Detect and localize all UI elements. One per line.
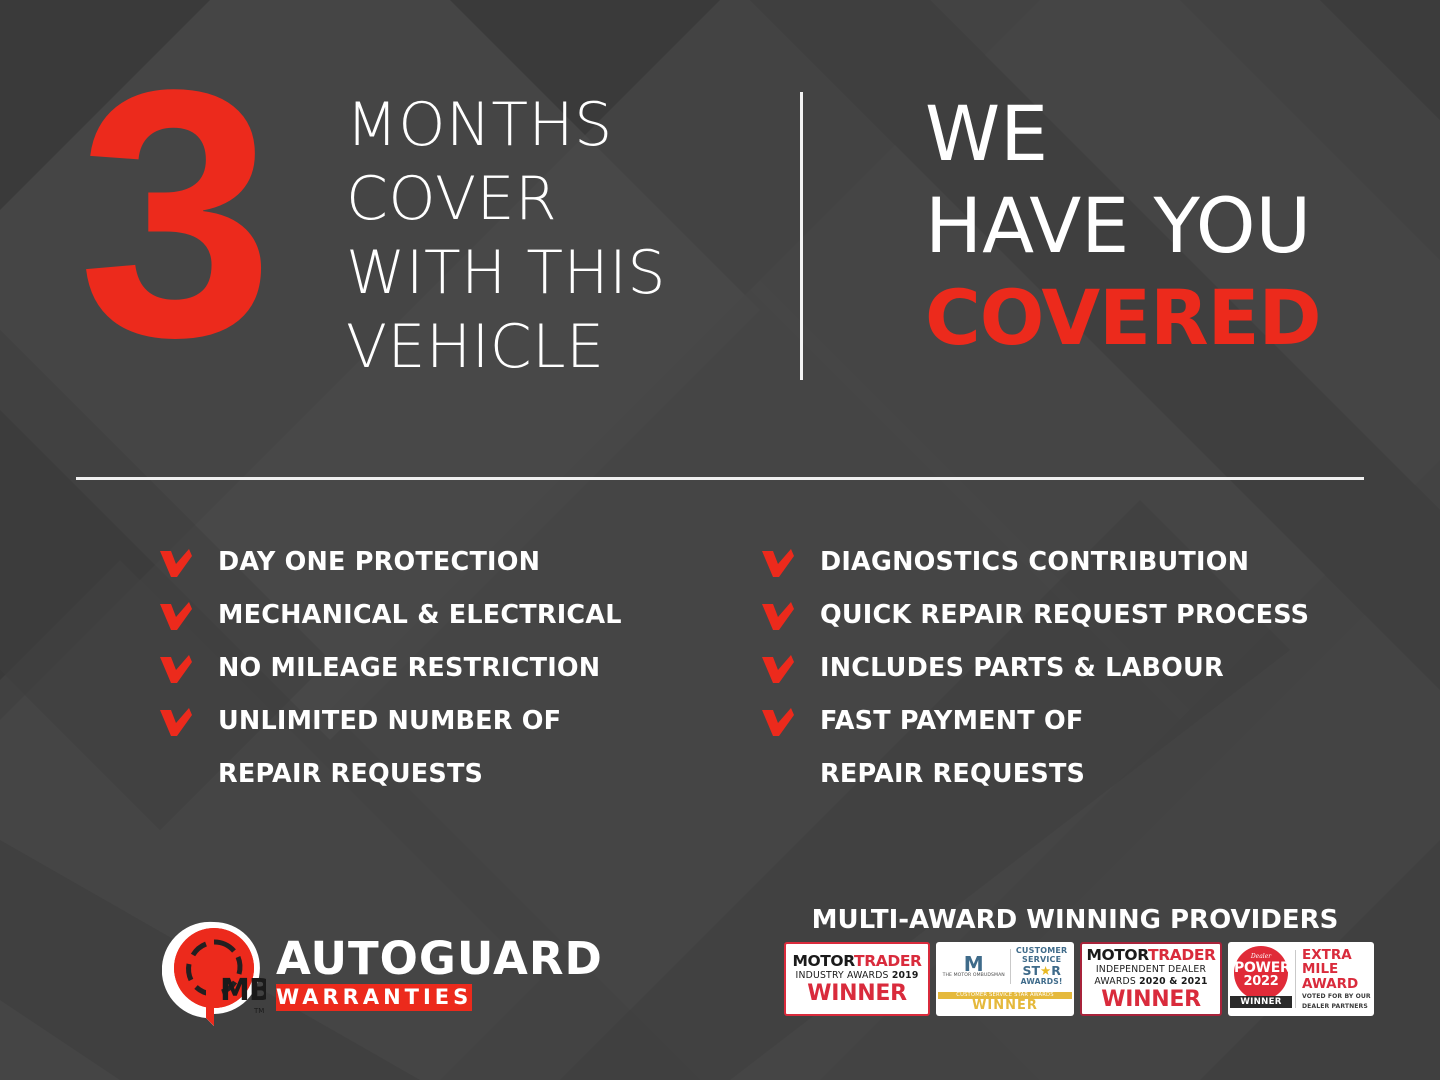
badge-separator	[1010, 949, 1011, 984]
hero-section: 3 MONTHS COVER WITH THIS VEHICLE WE HAVE…	[0, 0, 1440, 460]
voted-line-2: DEALER PARTNERS	[1302, 1003, 1372, 1010]
check-icon	[158, 600, 194, 634]
right-headline: WE HAVE YOU COVERED	[925, 88, 1321, 364]
awards-badge-row: MOTORTRADER INDUSTRY AWARDS 2019 WINNER …	[784, 942, 1366, 1016]
brand-name: AUTOGUARD	[276, 932, 603, 985]
power-label: POWER	[1234, 961, 1288, 975]
section-divider	[76, 477, 1364, 480]
check-icon	[158, 653, 194, 687]
feature-item-continuation: REPAIR REQUESTS	[158, 757, 738, 810]
badge-star-pre: ST	[1022, 963, 1040, 978]
feature-label: DIAGNOSTICS CONTRIBUTION	[820, 545, 1249, 579]
autoguard-wordmark: AUTOGUARD WARRANTIES	[276, 936, 554, 1012]
feature-label: INCLUDES PARTS & LABOUR	[820, 651, 1224, 685]
autoguard-logo: MBi TM AUTOGUARD WARRANTIES	[162, 918, 554, 1030]
svg-text:TM: TM	[253, 1007, 264, 1015]
promo-poster: 3 MONTHS COVER WITH THIS VEHICLE WE HAVE…	[0, 0, 1440, 1080]
dealer-power-seal-icon: Dealer POWER 2022	[1234, 946, 1288, 1000]
feature-label: QUICK REPAIR REQUEST PROCESS	[820, 598, 1309, 632]
feature-label: NO MILEAGE RESTRICTION	[218, 651, 600, 685]
mbi-logo-icon: MBi TM	[162, 918, 266, 1030]
award-line-2: MILE	[1302, 962, 1372, 977]
award-badge-motortrader-independent-dealer: MOTORTRADER INDEPENDENT DEALER AWARDS 20…	[1080, 942, 1222, 1016]
check-icon-placeholder	[760, 759, 796, 793]
badge-status: WINNER	[938, 999, 1072, 1014]
feature-label: DAY ONE PROTECTION	[218, 545, 540, 579]
badge-brand-part-b: TRADER	[854, 952, 922, 970]
cover-duration-number: 3	[78, 48, 266, 378]
awards-section: MULTI-AWARD WINNING PROVIDERS MOTORTRADE…	[784, 905, 1366, 1016]
badge-brand: MOTORTRADER	[792, 953, 921, 970]
feature-label: REPAIR REQUESTS	[218, 757, 483, 791]
feature-item: FAST PAYMENT OF	[760, 704, 1380, 757]
awards-title: MULTI-AWARD WINNING PROVIDERS	[784, 905, 1366, 935]
feature-item: NO MILEAGE RESTRICTION	[158, 651, 738, 704]
badge-status: WINNER	[792, 982, 921, 1005]
feature-column-right: DIAGNOSTICS CONTRIBUTION QUICK REPAIR RE…	[760, 545, 1380, 810]
badge-year: 2022	[1234, 975, 1288, 989]
award-badge-dealer-power-extra-mile: Dealer POWER 2022 WINNER EXTRA MILE AWAR…	[1228, 942, 1374, 1016]
feature-column-left: DAY ONE PROTECTION MECHANICAL & ELECTRIC…	[158, 545, 738, 810]
headline-vertical-divider	[800, 92, 803, 380]
badge-brand-part-b: TRADER	[1148, 946, 1216, 964]
badge-brand-part-a: MOTOR	[792, 952, 854, 970]
badge-brand: MOTORTRADER	[1086, 947, 1215, 964]
feature-label: REPAIR REQUESTS	[820, 757, 1085, 791]
badge-brand-part-a: MOTOR	[1086, 946, 1148, 964]
check-icon	[760, 547, 796, 581]
right-headline-line-1: WE	[925, 88, 1321, 180]
badge-separator	[1295, 950, 1296, 1008]
badge-year: 2020 & 2021	[1139, 976, 1208, 987]
voted-line-1: VOTED FOR BY OUR	[1302, 993, 1372, 1000]
feature-item-continuation: REPAIR REQUESTS	[760, 757, 1380, 810]
left-headline: MONTHS COVER WITH THIS VEHICLE	[346, 88, 666, 384]
badge-line-3: ST★R	[1016, 964, 1068, 977]
dealer-label: Dealer	[1234, 946, 1288, 961]
badge-subtitle-text: INDUSTRY AWARDS	[796, 970, 889, 981]
feature-item: INCLUDES PARTS & LABOUR	[760, 651, 1380, 704]
left-headline-line-3: WITH THIS	[346, 236, 666, 310]
left-headline-line-4: VEHICLE	[346, 310, 666, 384]
left-headline-line-1: MONTHS	[346, 88, 666, 162]
star-icon: ★	[1040, 963, 1051, 978]
feature-item: DAY ONE PROTECTION	[158, 545, 738, 598]
left-headline-line-2: COVER	[346, 162, 666, 236]
ombudsman-name: THE MOTOR OMBUDSMAN	[943, 973, 1005, 979]
motor-ombudsman-logo: M THE MOTOR OMBUDSMAN	[943, 955, 1005, 979]
badge-status: WINNER	[1086, 988, 1215, 1011]
check-icon	[158, 547, 194, 581]
right-headline-accent: COVERED	[925, 272, 1321, 364]
check-icon	[760, 653, 796, 687]
ombudsman-mark: M	[943, 955, 1005, 973]
badge-year: 2019	[892, 970, 919, 981]
right-headline-line-2: HAVE YOU	[925, 180, 1321, 272]
badge-status: WINNER	[1230, 996, 1292, 1008]
feature-item: DIAGNOSTICS CONTRIBUTION	[760, 545, 1380, 598]
check-icon-placeholder	[158, 759, 194, 793]
check-icon	[158, 706, 194, 740]
badge-awards-label: AWARDS	[1094, 976, 1136, 987]
award-badge-customer-service-star: M THE MOTOR OMBUDSMAN CUSTOMER SERVICE S…	[936, 942, 1074, 1016]
badge-subtitle: INDEPENDENT DEALER	[1086, 964, 1215, 976]
feature-item: MECHANICAL & ELECTRICAL	[158, 598, 738, 651]
svg-text:MBi: MBi	[220, 973, 266, 1008]
feature-item: UNLIMITED NUMBER OF	[158, 704, 738, 757]
badge-line-4: AWARDS!	[1016, 977, 1068, 986]
badge-star-post: R	[1051, 963, 1061, 978]
check-icon	[760, 600, 796, 634]
feature-label: FAST PAYMENT OF	[820, 704, 1083, 738]
feature-label: UNLIMITED NUMBER OF	[218, 704, 561, 738]
feature-label: MECHANICAL & ELECTRICAL	[218, 598, 622, 632]
brand-subtitle: WARRANTIES	[276, 984, 472, 1011]
check-icon	[760, 706, 796, 740]
award-line-1: EXTRA	[1302, 948, 1372, 963]
feature-item: QUICK REPAIR REQUEST PROCESS	[760, 598, 1380, 651]
award-line-3: AWARD	[1302, 977, 1372, 992]
award-badge-motortrader-industry-2019: MOTORTRADER INDUSTRY AWARDS 2019 WINNER	[784, 942, 930, 1016]
